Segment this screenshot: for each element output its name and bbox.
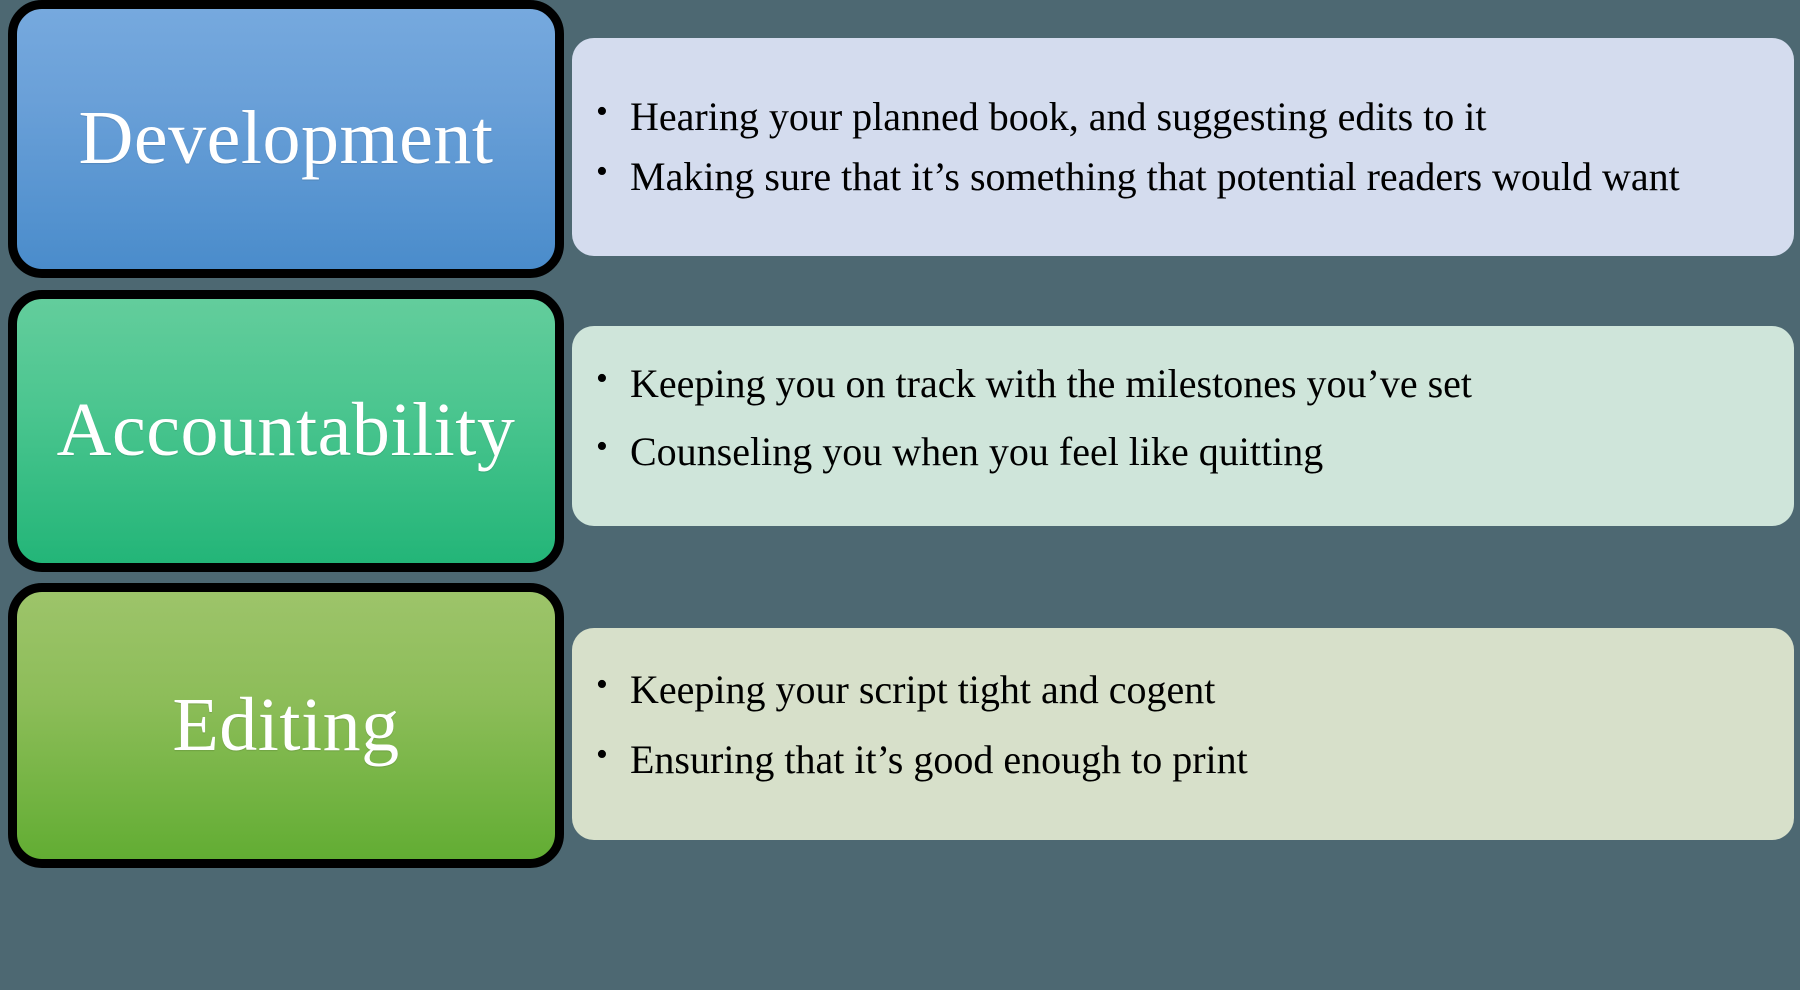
bullet-list-editing: Keeping your script tight and cogent Ens… bbox=[588, 664, 1768, 804]
bullet-panel-editing: Keeping your script tight and cogent Ens… bbox=[572, 628, 1794, 840]
diagram-row-editing: Keeping your script tight and cogent Ens… bbox=[0, 583, 1800, 868]
bullet-item: Making sure that it’s something that pot… bbox=[588, 151, 1768, 203]
bullet-panel-accountability: Keeping you on track with the milestones… bbox=[572, 326, 1794, 526]
category-label: Accountability bbox=[57, 391, 516, 471]
bullet-item: Hearing your planned book, and suggestin… bbox=[588, 91, 1768, 143]
diagram-row-accountability: Keeping you on track with the milestones… bbox=[0, 290, 1800, 572]
bullet-item: Keeping your script tight and cogent bbox=[588, 664, 1768, 716]
category-box-accountability[interactable]: Accountability bbox=[8, 290, 564, 572]
bullet-list-accountability: Keeping you on track with the milestones… bbox=[588, 358, 1768, 494]
bullet-panel-development: Hearing your planned book, and suggestin… bbox=[572, 38, 1794, 256]
category-label: Development bbox=[79, 99, 494, 179]
category-box-editing[interactable]: Editing bbox=[8, 583, 564, 868]
category-box-development[interactable]: Development bbox=[8, 0, 564, 278]
bullet-list-development: Hearing your planned book, and suggestin… bbox=[588, 91, 1768, 203]
bullet-item: Counseling you when you feel like quitti… bbox=[588, 426, 1768, 478]
diagram-canvas: Hearing your planned book, and suggestin… bbox=[0, 0, 1800, 990]
bullet-item: Keeping you on track with the milestones… bbox=[588, 358, 1768, 410]
diagram-row-development: Hearing your planned book, and suggestin… bbox=[0, 0, 1800, 278]
category-label: Editing bbox=[172, 686, 399, 766]
bullet-item: Ensuring that it’s good enough to print bbox=[588, 734, 1768, 786]
